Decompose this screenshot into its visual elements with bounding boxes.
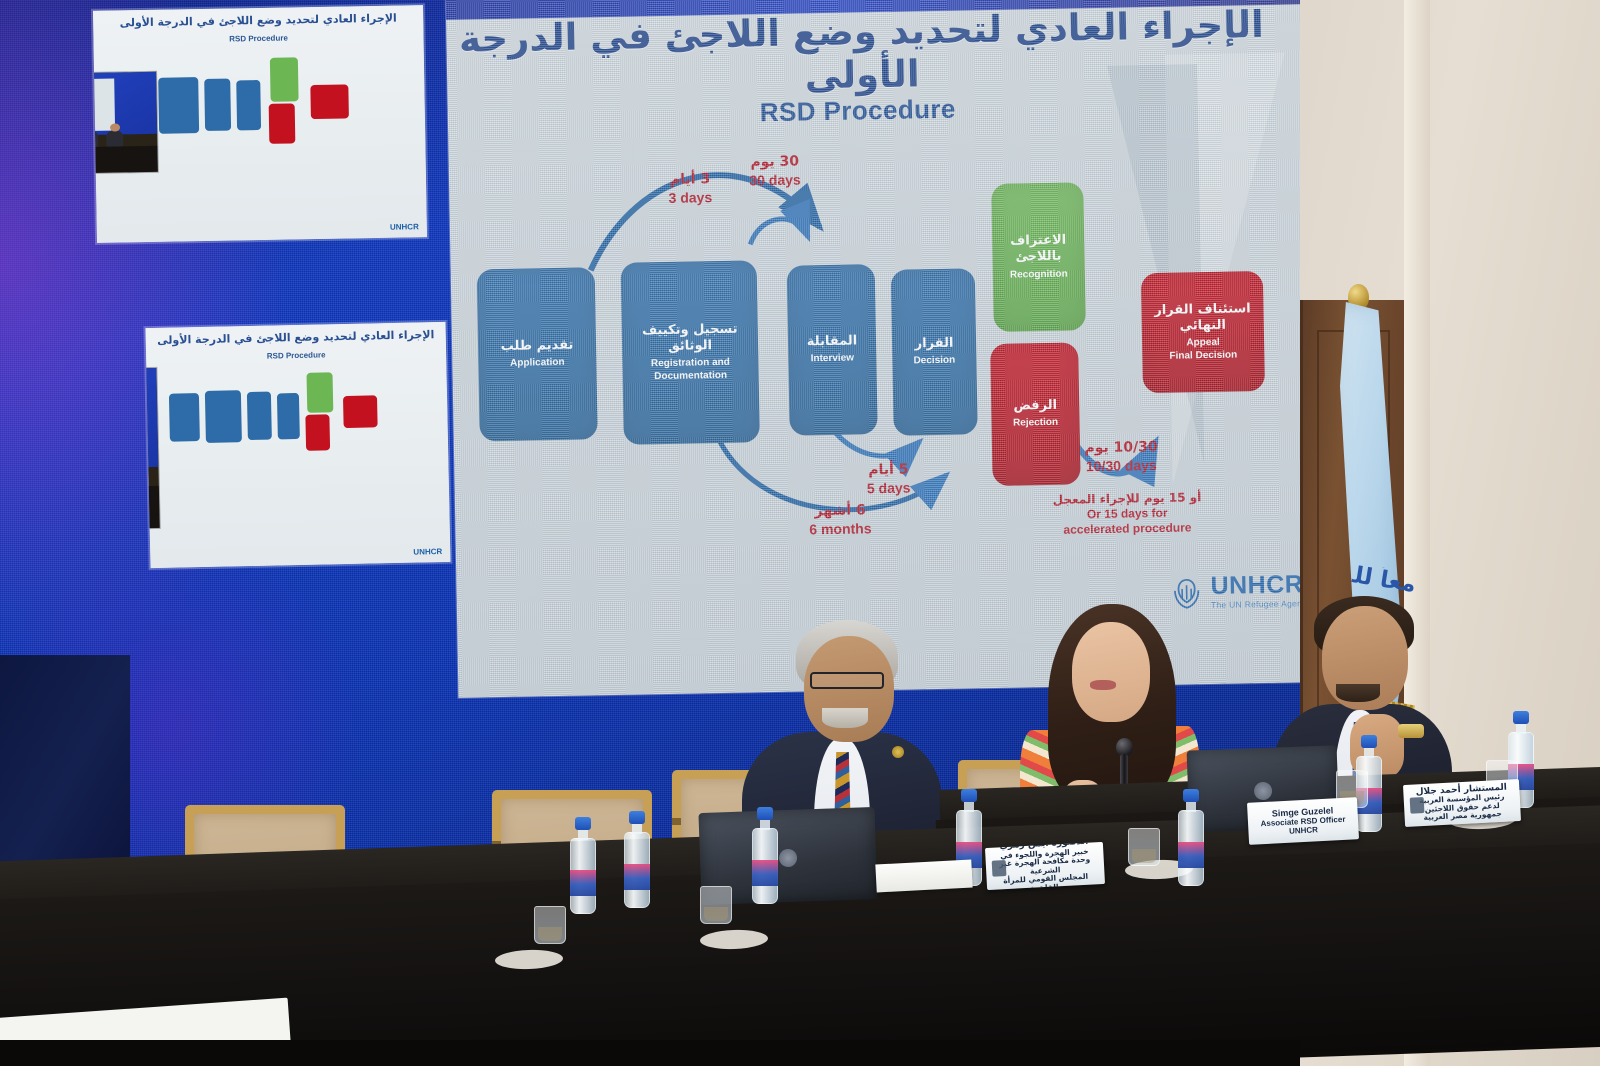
annotation-appeal-days: 10/30 يوم 10/30 days — [1058, 438, 1185, 475]
flow-box-rejection-en: Rejection — [1013, 417, 1058, 430]
annotation-thirty-days: 30 يوم 30 days — [727, 153, 824, 190]
nameplate-right-lines: المستشار أحمد جلال رئيس المؤسسة العربية … — [1409, 782, 1515, 824]
flow-box-decision-en: Decision — [913, 355, 955, 368]
flow-box-recognition: الاعتراف باللاجئ Recognition — [991, 182, 1086, 332]
secondary-bottom-subtitle: RSD Procedure — [146, 348, 446, 363]
flow-box-appeal: استئناف القرار النهائي Appeal Final Deci… — [1141, 271, 1265, 393]
annotation-three-days-en: 3 days — [645, 188, 735, 207]
mini2-box-appeal — [343, 395, 378, 428]
flow-box-registration: تسجيل وتكييف الوثائق Registration and Do… — [621, 260, 760, 444]
feed-head-3 — [110, 123, 120, 131]
secondary-bottom-title: الإجراء العادي لتحديد وضع اللاجئ في الدر… — [146, 328, 446, 347]
annotation-three-days: 3 أيام 3 days — [645, 171, 736, 208]
feed-wall-bottom — [146, 368, 159, 470]
wristwatch-icon — [1398, 724, 1424, 738]
water-bottle-3[interactable] — [752, 808, 778, 904]
mini2-box-decision — [277, 393, 300, 439]
bottle-5-cap — [1183, 789, 1199, 802]
rsd-procedure-slide: الإجراء العادي لتحديد وضع اللاجئ في الدر… — [446, 0, 1300, 698]
flow-box-registration-ar: تسجيل وتكييف الوثائق — [626, 321, 755, 356]
water-bottle-2[interactable] — [624, 812, 650, 908]
flow-box-interview: المقابلة Interview — [787, 264, 878, 436]
secondary-top-subtitle: RSD Procedure — [93, 31, 423, 46]
bottle-5-label — [1178, 842, 1204, 868]
nameplate-speaker: Simge Guzelel Associate RSD Officer UNHC… — [1247, 797, 1359, 845]
nameplate-right-panelist: المستشار أحمد جلال رئيس المؤسسة العربية … — [1403, 779, 1521, 827]
secondary-screen-bottom: الإجراء العادي لتحديد وضع اللاجئ في الدر… — [146, 322, 451, 568]
water-glass-3[interactable] — [1128, 828, 1160, 866]
mini2-box-interview — [247, 392, 272, 440]
annotation-thirty-days-en: 30 days — [727, 171, 823, 190]
bottle-3-cap — [757, 807, 773, 820]
flow-box-interview-ar: المقابلة — [807, 334, 858, 351]
nameplate-emblem-icon-1 — [992, 860, 1007, 877]
panelist-left-beard — [822, 708, 868, 728]
secondary-screen-top: الإجراء العادي لتحديد وضع اللاجئ في الدر… — [93, 5, 427, 243]
flow-box-appeal-en: Appeal Final Decision — [1169, 337, 1237, 363]
secondary-top-title: الإجراء العادي لتحديد وضع اللاجئ في الدر… — [93, 11, 423, 30]
mini-box-rejection — [269, 103, 296, 143]
mini-box-registration — [158, 77, 199, 134]
flow-box-application-en: Application — [510, 357, 565, 370]
nameplate-speaker-lines: Simge Guzelel Associate RSD Officer UNHC… — [1253, 804, 1352, 838]
annotation-accelerated-en-2: accelerated procedure — [1017, 520, 1237, 539]
paper-document-1 — [875, 860, 972, 893]
nameplate-emblem-icon-2 — [1410, 797, 1425, 814]
annotation-thirty-days-ar: 30 يوم — [727, 153, 823, 172]
flow-box-decision: القرار Decision — [891, 268, 978, 436]
annotation-six-months-en: 6 months — [785, 519, 895, 539]
bottle-6-cap — [1361, 735, 1377, 748]
flow-box-rejection-ar: الرفض — [1013, 398, 1057, 415]
feed-person-3 — [106, 130, 124, 146]
flow-box-application-ar: تقديم طلب — [501, 338, 574, 356]
annotation-five-days-en: 5 days — [847, 479, 931, 498]
bottle-2-label — [624, 864, 650, 890]
secondary-slide-bottom: الإجراء العادي لتحديد وضع اللاجئ في الدر… — [146, 322, 451, 568]
floor — [0, 1040, 1300, 1066]
flow-box-decision-ar: القرار — [915, 336, 954, 353]
bottle-3-label — [752, 860, 778, 886]
flow-box-application: تقديم طلب Application — [477, 267, 598, 441]
flow-box-recognition-en: Recognition — [1010, 268, 1068, 282]
bottle-1-cap — [575, 817, 591, 830]
slide-watermark-shape-2 — [1107, 64, 1204, 466]
unhcr-emblem-icon — [1168, 574, 1205, 611]
mini2-box-rejection — [305, 414, 330, 450]
panelist-right-beard — [1336, 684, 1380, 702]
mini2-box-application — [169, 393, 200, 442]
bottle-7-cap — [1513, 711, 1529, 724]
flow-box-registration-en: Registration and Documentation — [626, 357, 754, 384]
video-feed-thumbnail-top — [93, 72, 158, 175]
annotation-five-days: 5 أيام 5 days — [846, 461, 931, 498]
water-glass-1[interactable] — [534, 906, 566, 944]
nameplate-left-lines: الدكتورة أيمن زهري خبير الهجرة واللجوء ف… — [991, 842, 1100, 890]
annotation-six-months: 6 أشهر 6 months — [785, 502, 896, 539]
water-bottle-5[interactable] — [1178, 790, 1204, 886]
mini-box-interview — [204, 79, 231, 131]
annotation-three-days-ar: 3 أيام — [645, 171, 735, 190]
nameplate-left-panelist: الدكتورة أيمن زهري خبير الهجرة واللجوء ف… — [985, 842, 1105, 890]
eyeglasses-icon — [810, 672, 884, 689]
conference-room-scene: الإجراء العادي لتحديد وضع اللاجئ في الدر… — [0, 0, 1600, 1066]
mini-box-appeal — [310, 84, 349, 119]
annotation-six-months-ar: 6 أشهر — [785, 502, 895, 522]
flow-box-interview-en: Interview — [811, 353, 855, 366]
mini-box-decision — [236, 80, 261, 130]
speaker-head — [1072, 622, 1150, 722]
flow-box-recognition-ar: الاعتراف باللاجئ — [996, 232, 1081, 266]
bottle-4-cap — [961, 789, 977, 802]
secondary-bottom-logo: UNHCR — [413, 547, 442, 557]
feed-table-top — [93, 146, 158, 175]
bottle-2-cap — [629, 811, 645, 824]
lapel-pin-icon — [892, 746, 904, 758]
annotation-accelerated: أو 15 يوم للإجراء المعجل Or 15 days for … — [1017, 490, 1238, 539]
mini2-box-recognition — [306, 372, 333, 413]
speaker-mouth — [1090, 680, 1116, 690]
secondary-top-logo: UNHCR — [390, 222, 419, 232]
flow-box-appeal-ar: استئناف القرار النهائي — [1145, 301, 1260, 336]
slide-title-arabic: الإجراء العادي لتحديد وضع اللاجئ في الدر… — [446, 3, 1277, 104]
water-glass-2[interactable] — [700, 886, 732, 924]
annotation-appeal-days-en: 10/30 days — [1058, 456, 1184, 476]
water-bottle-1[interactable] — [570, 818, 596, 914]
mini-box-recognition — [270, 57, 299, 101]
mini2-box-registration — [205, 390, 242, 443]
annotation-five-days-ar: 5 أيام — [846, 461, 930, 480]
bottle-1-label — [570, 870, 596, 896]
